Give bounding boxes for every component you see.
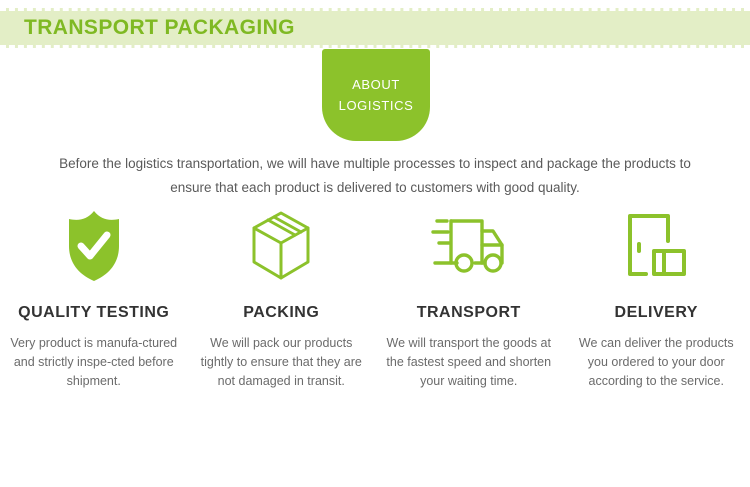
feature-title: QUALITY TESTING (18, 304, 169, 322)
feature-transport: TRANSPORT We will transport the goods at… (375, 208, 563, 391)
shield-check-icon (60, 208, 128, 284)
door-parcel-icon (624, 208, 688, 284)
feature-title: DELIVERY (615, 304, 698, 322)
package-box-icon (250, 208, 312, 284)
feature-description: We will pack our products tightly to ens… (196, 334, 366, 391)
about-logistics-badge: ABOUT LOGISTICS (322, 49, 430, 141)
feature-delivery: DELIVERY We can deliver the products you… (563, 208, 750, 391)
intro-paragraph: Before the logistics transportation, we … (45, 152, 705, 200)
page-title: TRANSPORT PACKAGING (24, 16, 295, 40)
badge-line-2: LOGISTICS (339, 97, 414, 115)
delivery-truck-icon (427, 208, 511, 284)
feature-packing: PACKING We will pack our products tightl… (188, 208, 376, 391)
feature-title: TRANSPORT (417, 304, 521, 322)
badge-line-1: ABOUT (352, 76, 400, 94)
feature-description: We can deliver the products you ordered … (571, 334, 741, 391)
feature-columns: QUALITY TESTING Very product is manufa-c… (0, 208, 750, 391)
feature-title: PACKING (243, 304, 319, 322)
feature-quality-testing: QUALITY TESTING Very product is manufa-c… (0, 208, 188, 391)
section-header-band: TRANSPORT PACKAGING (0, 8, 750, 48)
feature-description: Very product is manufa-ctured and strict… (9, 334, 179, 391)
feature-description: We will transport the goods at the faste… (384, 334, 554, 391)
transport-packaging-page: TRANSPORT PACKAGING ABOUT LOGISTICS Befo… (0, 0, 750, 487)
